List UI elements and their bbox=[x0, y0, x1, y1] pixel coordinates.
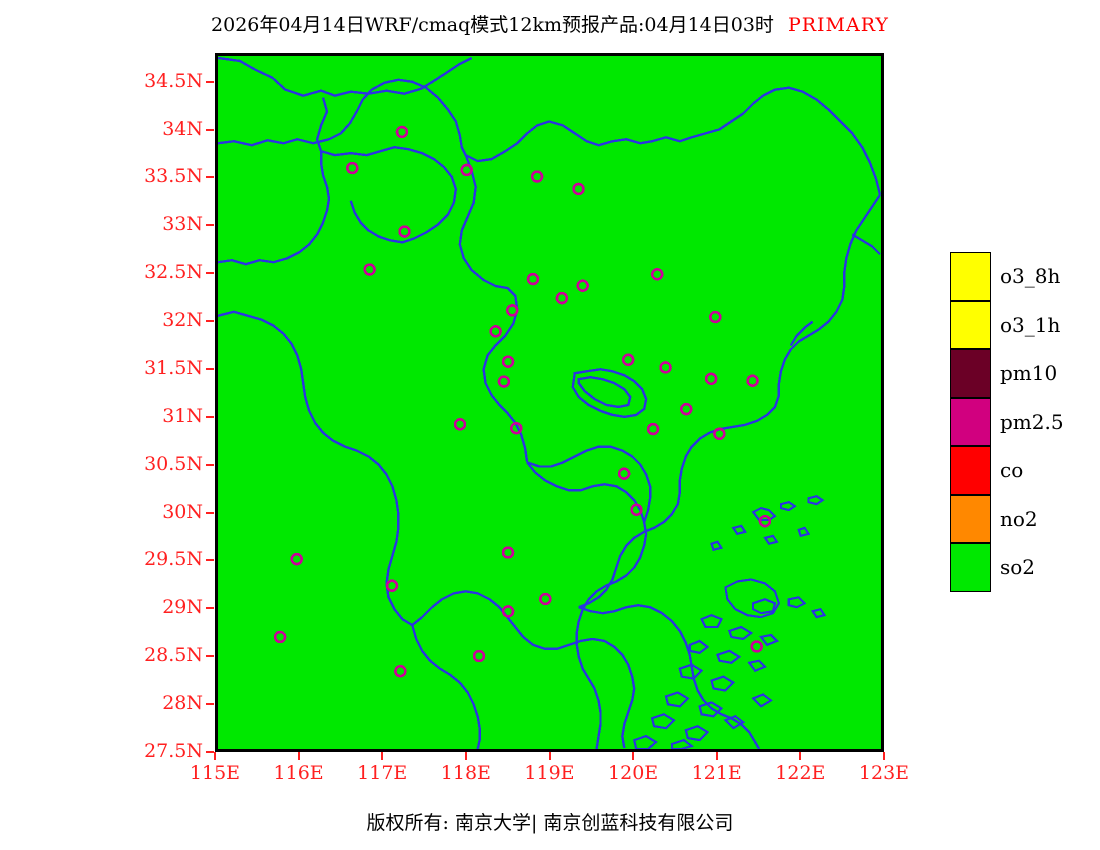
y-axis-tick bbox=[206, 272, 214, 274]
station-marker[interactable] bbox=[652, 269, 662, 279]
legend-label: pm10 bbox=[1000, 361, 1057, 385]
island-outlines bbox=[634, 496, 824, 749]
legend-label: co bbox=[1000, 458, 1023, 482]
y-axis-tick bbox=[206, 607, 214, 609]
x-axis-label: 116E bbox=[259, 762, 339, 784]
station-marker[interactable] bbox=[503, 606, 513, 616]
station-marker[interactable] bbox=[619, 469, 629, 479]
legend-swatch bbox=[950, 446, 991, 495]
legend-label: o3_1h bbox=[1000, 313, 1060, 337]
map-plot-area[interactable] bbox=[215, 53, 884, 752]
station-marker[interactable] bbox=[578, 281, 588, 291]
x-axis-tick bbox=[214, 752, 216, 760]
y-axis-tick bbox=[206, 176, 214, 178]
station-marker[interactable] bbox=[455, 419, 465, 429]
x-axis-tick bbox=[549, 752, 551, 760]
station-marker[interactable] bbox=[706, 374, 716, 384]
y-axis-label: 32.5N bbox=[125, 261, 203, 283]
station-marker[interactable] bbox=[760, 516, 770, 526]
station-marker[interactable] bbox=[400, 227, 410, 237]
x-axis-label: 117E bbox=[342, 762, 422, 784]
station-marker[interactable] bbox=[365, 265, 375, 275]
station-marker[interactable] bbox=[681, 404, 691, 414]
y-axis-label: 28.5N bbox=[125, 644, 203, 666]
y-axis-tick bbox=[206, 320, 214, 322]
legend-swatch bbox=[950, 398, 991, 447]
legend-swatch bbox=[950, 349, 991, 398]
x-axis-label: 120E bbox=[593, 762, 673, 784]
station-marker[interactable] bbox=[507, 305, 517, 315]
legend-label: no2 bbox=[1000, 507, 1038, 531]
y-axis-tick bbox=[206, 368, 214, 370]
station-markers[interactable] bbox=[275, 127, 770, 676]
x-axis-tick bbox=[716, 752, 718, 760]
x-axis-tick bbox=[465, 752, 467, 760]
y-axis-label: 29.5N bbox=[125, 548, 203, 570]
x-axis-tick bbox=[298, 752, 300, 760]
y-axis-label: 33N bbox=[125, 213, 203, 235]
station-marker[interactable] bbox=[623, 355, 633, 365]
station-marker[interactable] bbox=[532, 172, 542, 182]
legend-label: o3_8h bbox=[1000, 264, 1060, 288]
y-axis-label: 31N bbox=[125, 405, 203, 427]
station-marker[interactable] bbox=[557, 293, 567, 303]
page-title-text: 2026年04月14日WRF/cmaq模式12km预报产品:04月14日03时 bbox=[211, 14, 774, 36]
y-axis-tick bbox=[206, 464, 214, 466]
station-marker[interactable] bbox=[397, 127, 407, 137]
x-axis-label: 118E bbox=[426, 762, 506, 784]
y-axis-label: 27.5N bbox=[125, 740, 203, 762]
station-marker[interactable] bbox=[474, 651, 484, 661]
station-marker[interactable] bbox=[347, 163, 357, 173]
station-marker[interactable] bbox=[503, 548, 513, 558]
y-axis-label: 29N bbox=[125, 596, 203, 618]
y-axis-label: 31.5N bbox=[125, 357, 203, 379]
boundary-lines bbox=[218, 58, 880, 749]
x-axis-label: 121E bbox=[677, 762, 757, 784]
station-marker[interactable] bbox=[503, 357, 513, 367]
legend-swatch bbox=[950, 543, 991, 592]
station-marker[interactable] bbox=[387, 581, 397, 591]
x-axis-tick bbox=[883, 752, 885, 760]
y-axis-label: 34.5N bbox=[125, 70, 203, 92]
x-axis-tick bbox=[799, 752, 801, 760]
y-axis-tick bbox=[206, 751, 214, 753]
station-marker[interactable] bbox=[540, 594, 550, 604]
x-axis-label: 122E bbox=[760, 762, 840, 784]
y-axis-tick bbox=[206, 512, 214, 514]
x-axis-label: 123E bbox=[844, 762, 924, 784]
y-axis-tick bbox=[206, 655, 214, 657]
station-marker[interactable] bbox=[661, 362, 671, 372]
y-axis-label: 30N bbox=[125, 501, 203, 523]
x-axis-tick bbox=[632, 752, 634, 760]
y-axis-label: 32N bbox=[125, 309, 203, 331]
x-axis-label: 119E bbox=[510, 762, 590, 784]
station-marker[interactable] bbox=[491, 326, 501, 336]
station-marker[interactable] bbox=[752, 642, 762, 652]
station-marker[interactable] bbox=[499, 377, 509, 387]
legend-label: so2 bbox=[1000, 555, 1035, 579]
y-axis-label: 30.5N bbox=[125, 453, 203, 475]
y-axis-tick bbox=[206, 703, 214, 705]
station-marker[interactable] bbox=[710, 312, 720, 322]
station-marker[interactable] bbox=[292, 554, 302, 564]
station-marker[interactable] bbox=[528, 274, 538, 284]
y-axis-label: 34N bbox=[125, 118, 203, 140]
legend-swatch bbox=[950, 252, 991, 301]
y-axis-label: 28N bbox=[125, 692, 203, 714]
y-axis-tick bbox=[206, 81, 214, 83]
station-marker[interactable] bbox=[574, 184, 584, 194]
primary-tag: PRIMARY bbox=[774, 14, 889, 36]
station-marker[interactable] bbox=[648, 424, 658, 434]
y-axis-tick bbox=[206, 416, 214, 418]
legend-swatch bbox=[950, 495, 991, 544]
y-axis-tick bbox=[206, 129, 214, 131]
y-axis-label: 33.5N bbox=[125, 165, 203, 187]
y-axis-tick bbox=[206, 559, 214, 561]
legend-label: pm2.5 bbox=[1000, 410, 1064, 434]
x-axis-tick bbox=[381, 752, 383, 760]
copyright-footer: 版权所有: 南京大学| 南京创蓝科技有限公司 bbox=[0, 808, 1100, 835]
y-axis-tick bbox=[206, 224, 214, 226]
station-marker[interactable] bbox=[748, 376, 758, 386]
legend-swatch bbox=[950, 301, 991, 350]
x-axis-label: 115E bbox=[175, 762, 255, 784]
page-title: 2026年04月14日WRF/cmaq模式12km预报产品:04月14日03时P… bbox=[0, 10, 1100, 37]
station-marker[interactable] bbox=[395, 666, 405, 676]
forecast-map-page: 2026年04月14日WRF/cmaq模式12km预报产品:04月14日03时P… bbox=[0, 0, 1100, 850]
station-marker[interactable] bbox=[275, 632, 285, 642]
map-vector-layer bbox=[218, 56, 881, 749]
